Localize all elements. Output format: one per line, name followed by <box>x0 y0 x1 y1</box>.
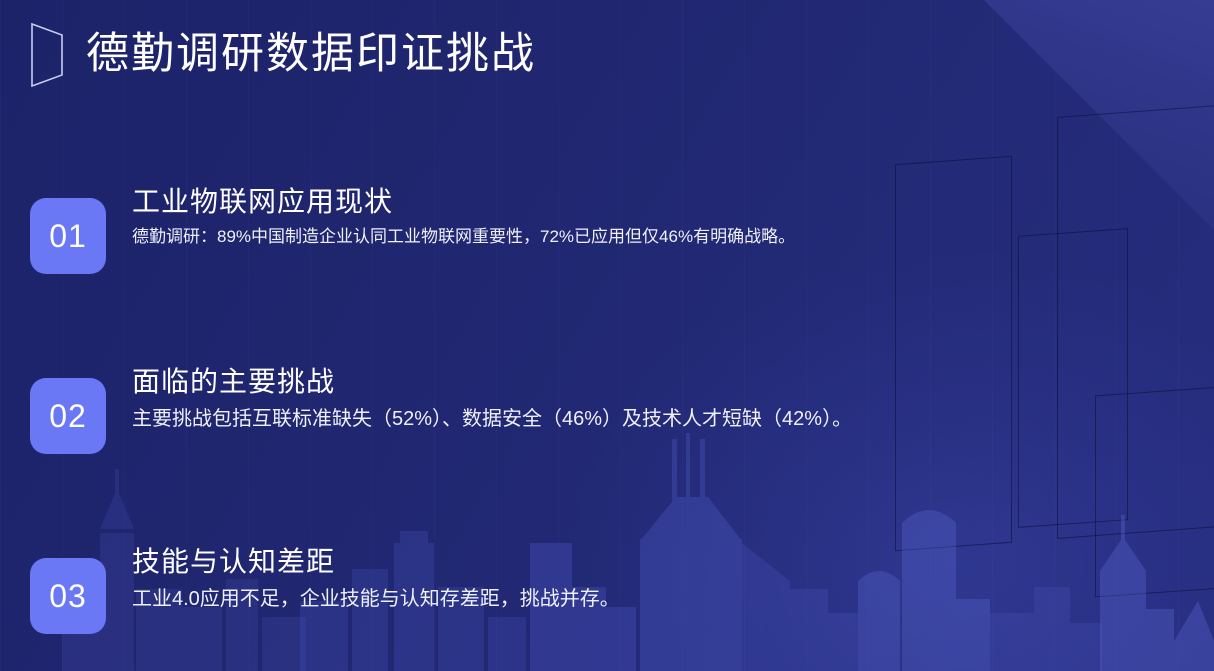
item-heading: 技能与认知差距 <box>132 544 620 579</box>
content-item[interactable]: 03 技能与认知差距 工业4.0应用不足，企业技能与认知存差距，挑战并存。 <box>0 540 1160 634</box>
item-number-badge: 03 <box>30 558 106 634</box>
item-body: 工业物联网应用现状 德勤调研：89%中国制造企业认同工业物联网重要性，72%已应… <box>132 180 795 250</box>
item-description: 工业4.0应用不足，企业技能与认知存差距，挑战并存。 <box>132 585 620 614</box>
item-number-badge: 02 <box>30 378 106 454</box>
item-heading: 面临的主要挑战 <box>132 364 852 399</box>
item-description: 德勤调研：89%中国制造企业认同工业物联网重要性，72%已应用但仅46%有明确战… <box>132 225 795 250</box>
page-title: 德勤调研数据印证挑战 <box>86 31 536 78</box>
content-item[interactable]: 01 工业物联网应用现状 德勤调研：89%中国制造企业认同工业物联网重要性，72… <box>0 180 1160 274</box>
item-description: 主要挑战包括互联标准缺失（52%）、数据安全（46%）及技术人才短缺（42%）。 <box>132 405 852 434</box>
outline-building-shape-1 <box>1057 105 1214 539</box>
slide-title-row: 德勤调研数据印证挑战 <box>30 22 536 88</box>
presentation-slide: 德勤调研数据印证挑战 01 工业物联网应用现状 德勤调研：89%中国制造企业认同… <box>0 0 1214 671</box>
bracket-trapezoid-icon <box>30 22 64 88</box>
item-number-badge: 01 <box>30 198 106 274</box>
content-item[interactable]: 02 面临的主要挑战 主要挑战包括互联标准缺失（52%）、数据安全（46%）及技… <box>0 360 1160 454</box>
item-body: 技能与认知差距 工业4.0应用不足，企业技能与认知存差距，挑战并存。 <box>132 540 620 614</box>
item-heading: 工业物联网应用现状 <box>132 184 795 219</box>
item-body: 面临的主要挑战 主要挑战包括互联标准缺失（52%）、数据安全（46%）及技术人才… <box>132 360 852 434</box>
